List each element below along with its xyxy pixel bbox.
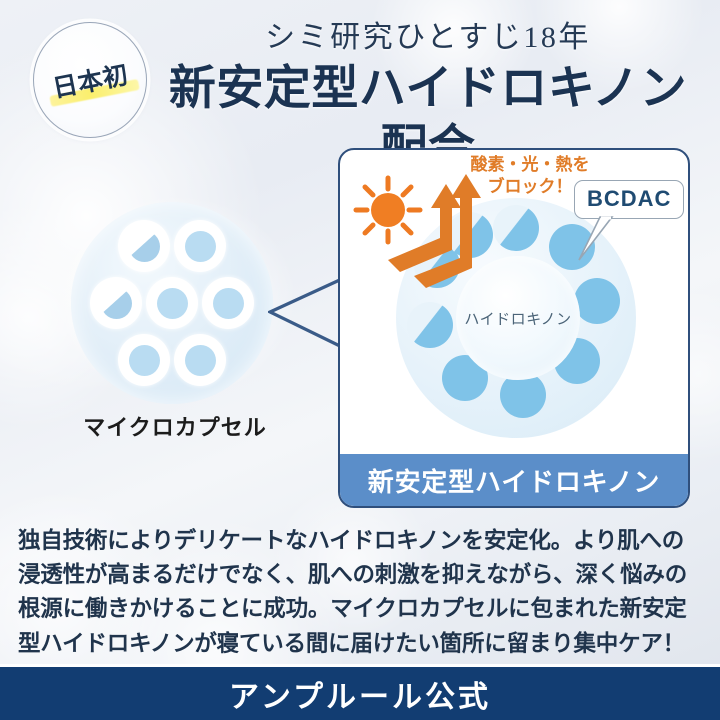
badge-inner: 日本初	[49, 55, 131, 105]
bcdac-dot	[574, 278, 620, 324]
header-section: 日本初 シミ研究ひとすじ18年 新安定型ハイドロキノン配合	[0, 0, 720, 146]
body-paragraph: 独自技術によりデリケートなハイドロキノンを安定化。より肌への浸透性が高まるだけで…	[18, 524, 706, 661]
advertisement-root: 日本初 シミ研究ひとすじ18年 新安定型ハイドロキノン配合 マイクロカプセル	[0, 0, 720, 720]
microcapsule-diagram: マイクロカプセル	[45, 196, 305, 446]
capsule-cell	[202, 277, 254, 329]
bcdac-dot	[407, 302, 453, 348]
badge-label: 日本初	[49, 55, 131, 105]
capsule-core	[101, 288, 132, 319]
panel-label-bar: 新安定型ハイドロキノン	[340, 454, 688, 506]
capsule-core	[213, 288, 244, 319]
bcdac-callout-tail	[576, 216, 616, 264]
sub-headline: シミ研究ひとすじ18年	[148, 20, 708, 56]
brand-name: アンプルール公式	[229, 672, 491, 716]
capsule-cell	[146, 277, 198, 329]
block-warning-text: 酸素・光・熱を ブロック！	[450, 154, 610, 198]
microcapsule-label: マイクロカプセル	[45, 410, 305, 442]
capsule-core	[157, 288, 188, 319]
capsule-cell	[90, 277, 142, 329]
hydroquinone-label: ハイドロキノン	[464, 308, 571, 329]
capsule-core	[185, 345, 216, 376]
capsule-cell	[118, 334, 170, 386]
capsule-core	[185, 231, 216, 262]
capsule-core	[129, 345, 160, 376]
capsule-cell	[118, 220, 170, 272]
footer-bar: アンプルール公式	[0, 664, 720, 720]
capsule-cell	[174, 220, 226, 272]
stabilized-hydroquinone-panel: ハイドロキノン	[338, 148, 690, 508]
microcapsule-shell	[71, 202, 273, 404]
panel-label-text: 新安定型ハイドロキノン	[368, 462, 660, 499]
connector-line	[268, 276, 346, 352]
capsule-cell	[174, 334, 226, 386]
japan-first-badge: 日本初	[33, 22, 147, 138]
capsule-core	[129, 231, 160, 262]
panel-illustration: ハイドロキノン	[340, 150, 688, 455]
